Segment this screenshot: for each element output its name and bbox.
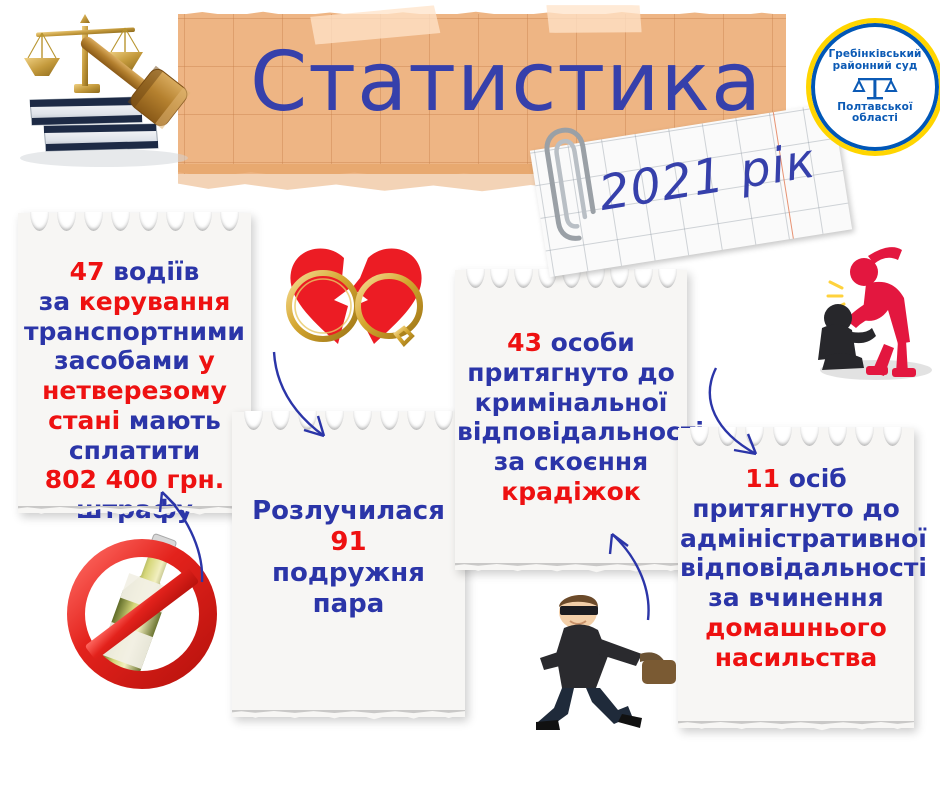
page-title: Статистика <box>250 42 720 124</box>
masking-tape-icon <box>546 3 643 36</box>
gavel-and-law-books-icon <box>6 6 206 171</box>
year-note: 2021 рік <box>530 103 852 277</box>
logo-line-4: області <box>852 113 898 125</box>
card-violence-text: 11 осібпритягнуто доадміністративноївідп… <box>678 428 914 672</box>
card-theft-text: 43 особипритягнуто докримінальноївідпові… <box>455 270 687 507</box>
card-violence: 11 осібпритягнуто доадміністративноївідп… <box>678 428 914 728</box>
arrow-bottle-to-drivers-icon <box>140 478 216 588</box>
logo-line-1: Гребінківський <box>829 49 922 61</box>
logo-line-2: районний суд <box>833 61 918 73</box>
arrow-thief-to-theft-icon <box>592 528 662 624</box>
scales-of-justice-icon <box>852 75 898 101</box>
domestic-violence-icon <box>806 236 936 384</box>
card-divorce-text: Розлучилася91подружняпара <box>232 412 465 620</box>
torn-edge <box>678 721 914 735</box>
card-theft: 43 особипритягнуто докримінальноївідпові… <box>455 270 687 570</box>
arrow-heart-to-divorce-icon <box>270 348 348 444</box>
court-logo: Гребінківський районний суд Полтавської … <box>806 18 940 156</box>
torn-edge <box>232 710 465 724</box>
card-drivers: 47 водіївза керуваннятранспортнимизасоба… <box>18 213 251 513</box>
card-divorce: Розлучилася91подружняпара <box>232 412 465 717</box>
card-drivers-text: 47 водіївза керуваннятранспортнимизасоба… <box>18 213 251 525</box>
arrow-violence-to-card-icon <box>690 366 780 462</box>
